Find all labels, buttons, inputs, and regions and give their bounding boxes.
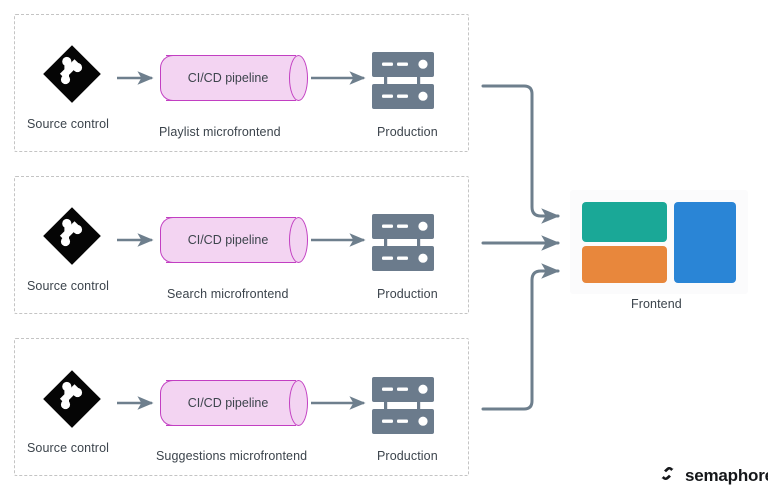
- cicd-pipeline-cylinder: CI/CD pipeline: [160, 380, 308, 426]
- production-label: Production: [377, 125, 438, 139]
- frontend-label: Frontend: [631, 297, 682, 311]
- semaphore-logo-icon: [657, 463, 678, 489]
- cicd-pipeline-cylinder: CI/CD pipeline: [160, 217, 308, 263]
- production-label: Production: [377, 449, 438, 463]
- production-label: Production: [377, 287, 438, 301]
- source-control-label: Source control: [27, 279, 109, 293]
- cicd-pipeline-label: CI/CD pipeline: [160, 55, 296, 101]
- frontend-composition: [570, 190, 748, 294]
- microfrontend-caption: Playlist microfrontend: [159, 125, 281, 139]
- source-control-label: Source control: [27, 117, 109, 131]
- git-icon: [41, 368, 103, 430]
- server-icon: [370, 373, 436, 447]
- microfrontend-caption: Search microfrontend: [167, 287, 289, 301]
- cicd-pipeline-label: CI/CD pipeline: [160, 217, 296, 263]
- frontend-tile-blue: [674, 202, 736, 283]
- frontend-tile-teal: [582, 202, 667, 242]
- server-icon: [370, 210, 436, 284]
- diagram-canvas: Source control CI/CD pipeline Playlist m…: [0, 0, 768, 493]
- semaphore-wordmark: semaphore: [685, 466, 768, 486]
- git-icon: [41, 205, 103, 267]
- server-icon: [370, 48, 436, 122]
- semaphore-logo: semaphore: [657, 463, 768, 489]
- git-icon: [41, 43, 103, 105]
- frontend-tile-orange: [582, 246, 667, 283]
- cicd-pipeline-cylinder: CI/CD pipeline: [160, 55, 308, 101]
- microfrontend-caption: Suggestions microfrontend: [156, 449, 307, 463]
- source-control-label: Source control: [27, 441, 109, 455]
- cicd-pipeline-label: CI/CD pipeline: [160, 380, 296, 426]
